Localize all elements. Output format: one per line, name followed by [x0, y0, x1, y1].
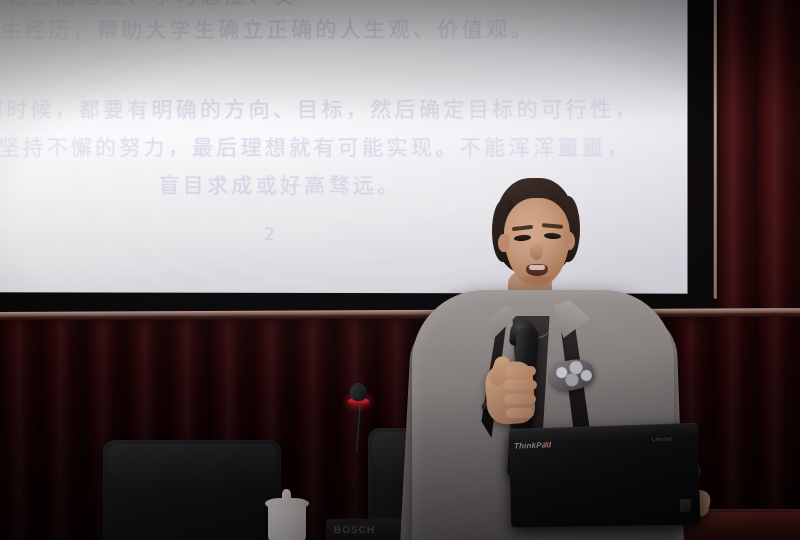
finger — [504, 380, 537, 390]
finger — [506, 408, 534, 418]
finger — [506, 366, 536, 376]
teeth — [529, 265, 545, 270]
slide-line-3: 任何时候，都要有明确的方向、目标，然后确定目标的可行性， — [0, 94, 639, 124]
teacup-knob — [282, 489, 291, 501]
slide-line-2: 流人生经历，帮助大学生确立正确的人生观、价值观。 — [0, 14, 535, 45]
chin-shadow — [516, 276, 558, 290]
thinkpad-logo-dot-icon — [545, 442, 548, 445]
gooseneck-microphone-capsule — [350, 383, 367, 401]
left-ear — [498, 234, 509, 252]
nose — [530, 242, 543, 260]
photo-scene: 和学生讨论生活态度、学习态度、交 流人生经历，帮助大学生确立正确的人生观、价值观… — [0, 0, 800, 540]
bosch-brand-label: BOSCH — [334, 525, 375, 536]
finger — [504, 394, 536, 404]
laptop-corner-badge — [680, 499, 691, 512]
lenovo-logo: Lenovo — [652, 437, 673, 444]
slide-line-1: 和学生讨论生活态度、学习态度、交 — [0, 0, 298, 11]
right-ear — [564, 232, 575, 250]
slide-line-5: 盲目求成或好高骛远。 — [159, 170, 402, 200]
chair-left — [103, 440, 281, 540]
slide-page-number: 2 — [264, 225, 275, 245]
